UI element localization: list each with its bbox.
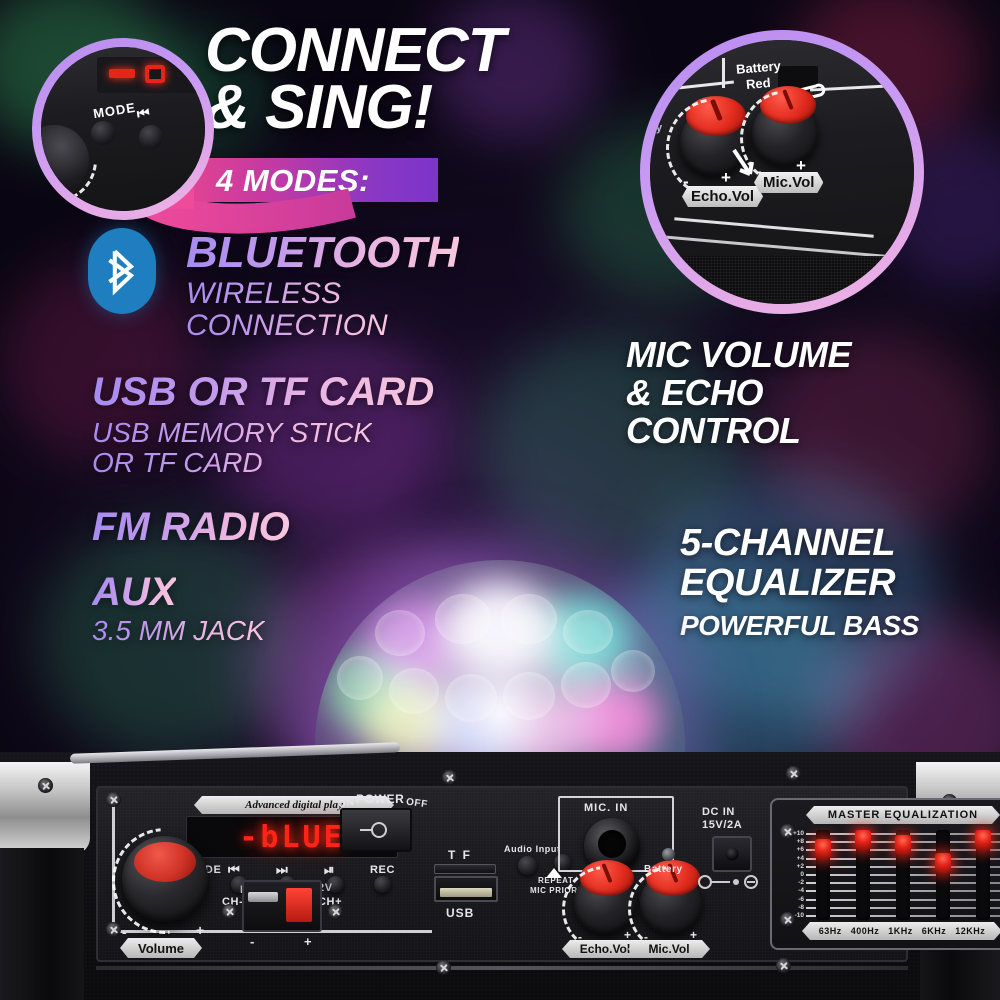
battery-led-label: Battery	[644, 864, 683, 875]
feature-title-bluetooth: BLUETOOTH	[186, 228, 459, 278]
eq-scale-tick: +8	[788, 838, 804, 846]
inset-battery-color-label: Red	[745, 75, 771, 92]
eq-band-label: 6KHz	[922, 926, 947, 936]
panel-screw-top-right	[786, 766, 801, 781]
dc-in-label: DC IN 15V/2A	[702, 806, 742, 832]
eq-scale-tick: +4	[788, 855, 804, 863]
feature-sub-usb-tf: USB MEMORY STICK OR TF CARD	[92, 418, 372, 478]
eq-slider-cap-12KHz[interactable]	[975, 830, 991, 850]
eq-scale-tick: -8	[788, 904, 804, 912]
chrome-corner-left	[0, 762, 90, 854]
eq-slider-cap-1KHz[interactable]	[895, 835, 911, 855]
eq-slider-cap-63Hz[interactable]	[815, 839, 831, 859]
volume-minus-label: -	[122, 924, 127, 940]
prev-track-icon: ⏮	[136, 104, 151, 123]
audio-input-label: Audio Input	[504, 844, 561, 854]
eq-band-label: 400Hz	[851, 926, 880, 936]
equalizer-title: MASTER EQUALIZATION	[806, 806, 1000, 824]
eq-scale-tick: 0	[788, 871, 804, 879]
terminal-minus-label: -	[250, 934, 255, 949]
eq-scale-tick: -2	[788, 879, 804, 887]
mic-vol-label: Mic.Vol	[628, 940, 710, 958]
panel-screw-bottom-left	[436, 960, 451, 975]
led-display-value: -bLUE	[239, 820, 344, 855]
equalizer-bands: 63Hz400Hz1KHz6KHz12KHz	[802, 922, 1000, 940]
inset-mic-vol-label: Mic.Vol	[754, 172, 823, 193]
feature-title-aux: AUX	[92, 570, 176, 615]
volume-label: Volume	[120, 938, 202, 958]
inset-echo-vol-label: Echo.Vol	[682, 186, 763, 207]
panel-screw-bottom-right	[776, 958, 791, 973]
feature-sub-aux: 3.5 MM JACK	[92, 615, 265, 647]
eq-scale-tick: +6	[788, 846, 804, 854]
echo-plus-label: +	[624, 928, 632, 942]
right-feature-equalizer-sub: POWERFUL BASS	[680, 612, 919, 640]
eq-slider-6KHz[interactable]	[936, 830, 950, 920]
mic-in-label: MIC. IN	[584, 802, 628, 814]
usb-port[interactable]	[434, 876, 498, 902]
rec-button[interactable]	[374, 876, 391, 893]
product-feature-graphic: CONNECT & SING! 4 MODES: MODE ⏮	[0, 0, 1000, 1000]
polarity-icon	[696, 874, 760, 890]
eq-slider-cap-400Hz[interactable]	[855, 830, 871, 850]
audio-input-button[interactable]	[518, 856, 537, 875]
terminal-plus-label: +	[304, 934, 312, 949]
power-switch[interactable]	[340, 808, 412, 852]
eq-band-label: 12KHz	[955, 926, 985, 936]
panel-screw-top-left	[442, 770, 457, 785]
tf-label: T F	[448, 848, 472, 862]
volume-plus-label: +	[196, 922, 205, 938]
usb-label: USB	[446, 906, 474, 920]
echo-plus-label: +	[721, 168, 731, 188]
eq-scale-tick: -4	[788, 887, 804, 895]
eq-band-label: 1KHz	[888, 926, 913, 936]
eq-band-label: 63Hz	[819, 926, 842, 936]
eq-scale-tick: +2	[788, 863, 804, 871]
button-label-rec: REC	[370, 864, 395, 876]
eq-scale-tick: -6	[788, 896, 804, 904]
feature-sub-bluetooth: WIRELESS CONNECTION	[186, 278, 388, 343]
right-feature-equalizer: 5-CHANNEL EQUALIZER	[680, 523, 895, 604]
power-title-label: POWER	[356, 792, 404, 806]
mic-plus-label: +	[690, 928, 698, 942]
eq-slider-cap-6KHz[interactable]	[935, 853, 951, 873]
feature-title-fm-radio: FM RADIO	[92, 505, 290, 550]
dc-in-port[interactable]	[712, 836, 752, 872]
control-panel: Advanced digital play -bLUE MODE ⏮ CH- ⏭…	[96, 786, 908, 962]
eq-scale-tick: -10	[788, 912, 804, 920]
tf-card-slot[interactable]	[434, 864, 496, 874]
bluetooth-icon	[88, 228, 156, 314]
eq-scale-tick: +10	[788, 830, 804, 838]
disco-light-dome	[315, 560, 685, 772]
equalizer-panel: MASTER EQUALIZATION +10+8+6+4+20-2-4-6-8…	[770, 798, 1000, 950]
right-feature-mic-echo: MIC VOLUME & ECHO CONTROL	[626, 336, 851, 450]
inset-partial-label: y	[656, 122, 662, 134]
feature-title-usb-tf: USB OR TF CARD	[92, 370, 434, 415]
equalizer-scale-left: +10+8+6+4+20-2-4-6-8-10	[788, 830, 804, 920]
